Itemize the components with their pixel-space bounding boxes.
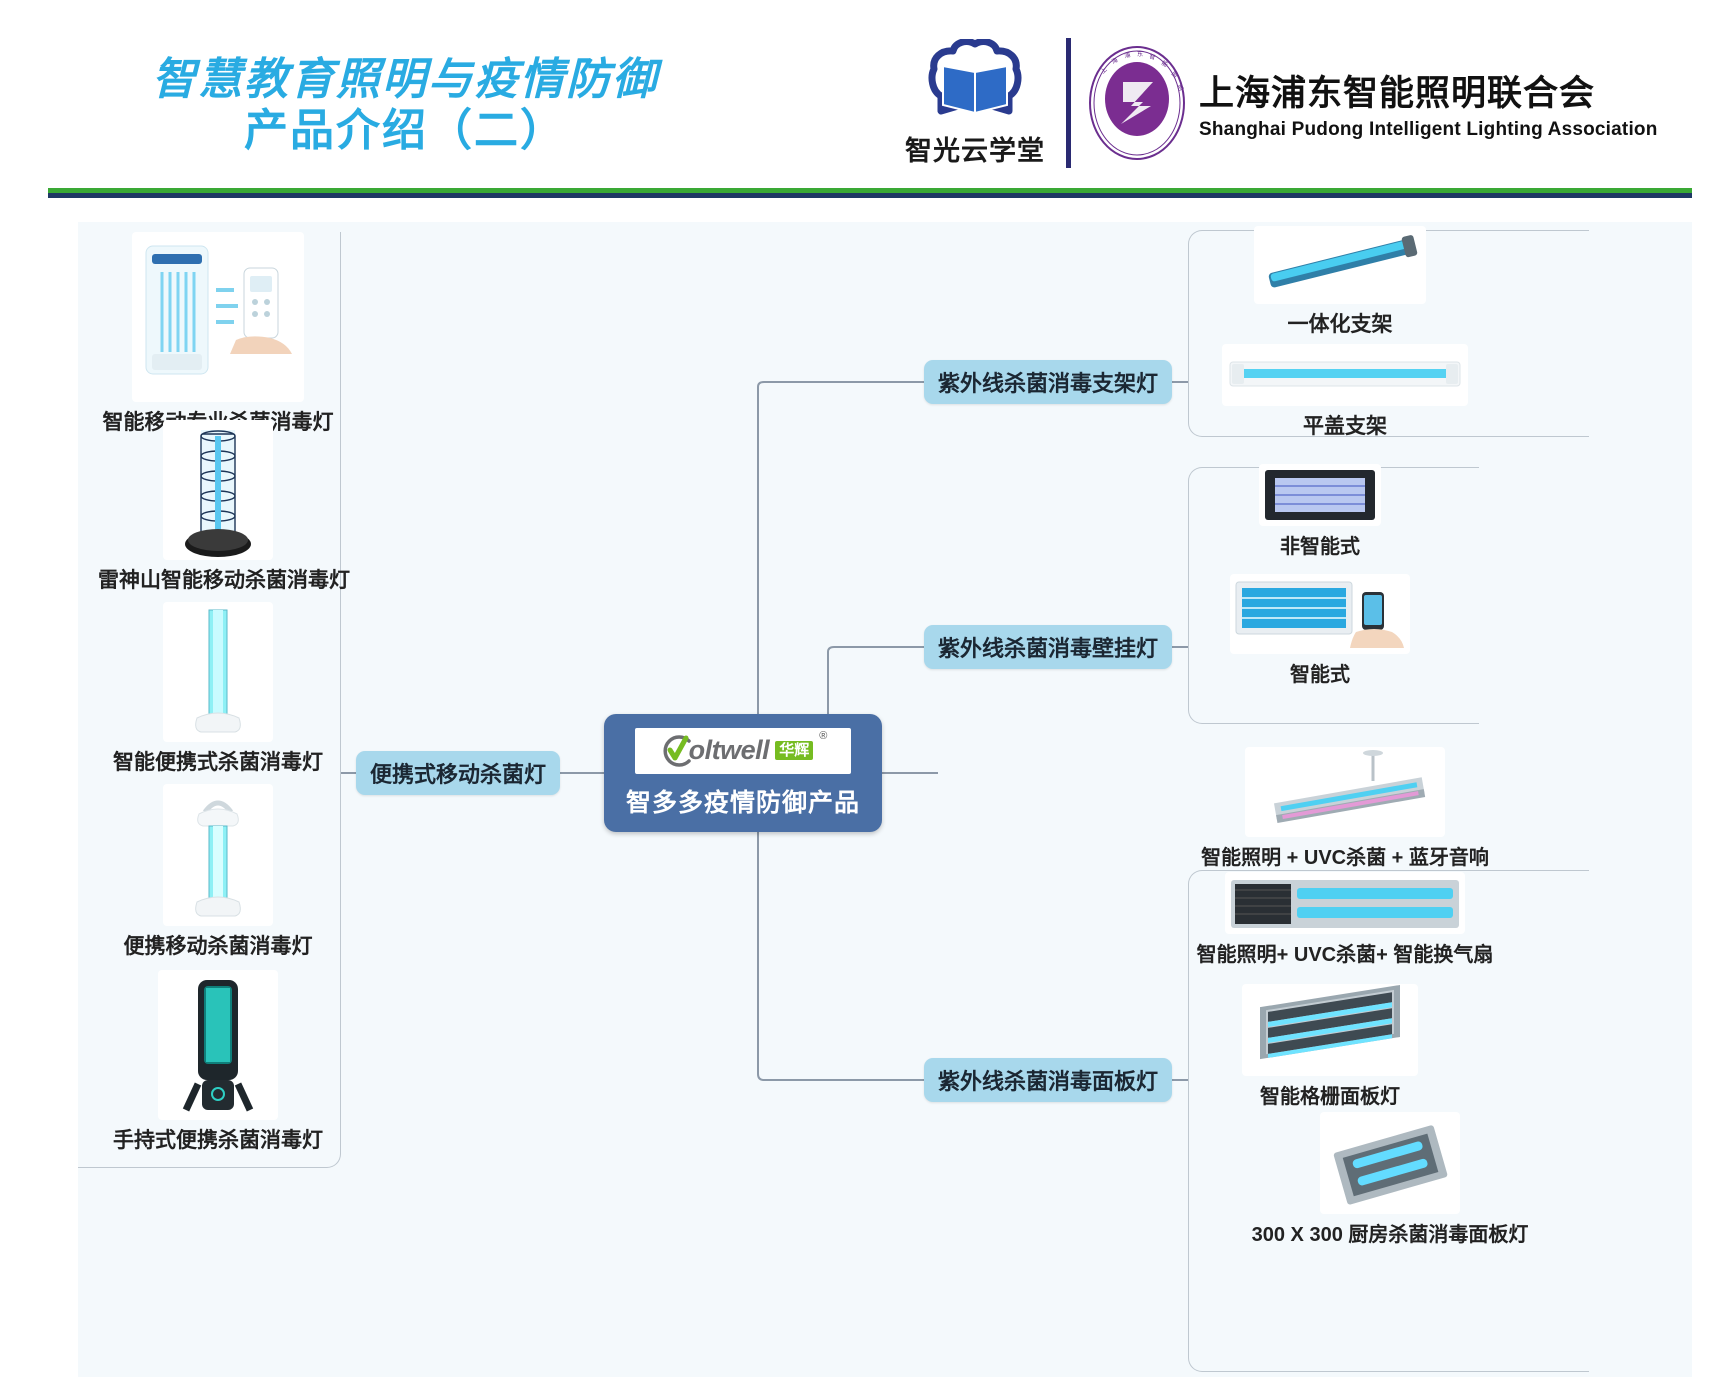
mindmap-canvas: 智能移动专业杀菌消毒灯 雷神山智能移动杀菌消毒灯 — [78, 222, 1692, 1377]
non-smart-wall-lamp-photo — [1259, 464, 1381, 526]
list-item-label: 智能照明 + UVC杀菌 + 蓝牙音响 — [1190, 841, 1500, 870]
pendant-uvc-bluetooth-photo — [1245, 747, 1445, 837]
book-cloud-icon — [923, 39, 1028, 127]
list-item[interactable]: 智能照明 + UVC杀菌 + 蓝牙音响 — [1190, 747, 1500, 870]
list-item-label: 300 X 300 厨房杀菌消毒面板灯 — [1190, 1218, 1590, 1247]
handheld-uv-lamp-photo — [158, 970, 278, 1120]
center-node[interactable]: oltwell 华辉 ® 智多多疫情防御产品 — [604, 714, 882, 832]
flat-cover-batten-photo — [1222, 344, 1468, 406]
association-name-en: Shanghai Pudong Intelligent Lighting Ass… — [1199, 119, 1658, 141]
mobile-pro-uv-lamp-photo — [132, 232, 304, 402]
zhiguang-logo-text: 智光云学堂 — [905, 129, 1045, 168]
spila-logo: 上 海 浦 东 智 能 照 明 上海浦东智能照明联合会 Shanghai Pud… — [1087, 44, 1658, 162]
list-item[interactable]: 智能便携式杀菌消毒灯 — [98, 602, 338, 776]
list-item[interactable]: 300 X 300 厨房杀菌消毒面板灯 — [1190, 1112, 1590, 1247]
title-line-1: 智慧教育照明与疫情防御 — [95, 55, 715, 106]
list-item-label: 雷神山智能移动杀菌消毒灯 — [98, 564, 338, 594]
branch-badge-portable[interactable]: 便携式移动杀菌灯 — [356, 751, 560, 795]
list-item[interactable]: 非智能式 — [1190, 464, 1450, 559]
logo-divider — [1066, 38, 1071, 168]
list-item[interactable]: 智能移动专业杀菌消毒灯 — [98, 232, 338, 436]
integrated-batten-photo — [1254, 226, 1426, 304]
voltwell-cn-mark: 华辉 — [775, 741, 813, 760]
list-item-label: 一体化支架 — [1190, 308, 1490, 338]
association-name-cn: 上海浦东智能照明联合会 — [1199, 65, 1658, 116]
header-rule-navy — [48, 193, 1692, 198]
list-item[interactable]: 智能照明+ UVC杀菌+ 智能换气扇 — [1190, 872, 1500, 967]
list-item[interactable]: 一体化支架 — [1190, 226, 1490, 338]
branch-badge-wall[interactable]: 紫外线杀菌消毒壁挂灯 — [924, 625, 1172, 669]
list-item-label: 非智能式 — [1190, 530, 1450, 559]
list-item-label: 便携移动杀菌消毒灯 — [98, 930, 338, 960]
title-line-2: 产品介绍（二） — [95, 106, 715, 157]
association-seal-icon: 上 海 浦 东 智 能 照 明 — [1087, 44, 1187, 162]
page-title: 智慧教育照明与疫情防御 产品介绍（二） — [95, 55, 715, 156]
list-item[interactable]: 便携移动杀菌消毒灯 — [98, 784, 338, 960]
center-node-caption: 智多多疫情防御产品 — [626, 783, 860, 819]
list-item[interactable]: 智能格栅面板灯 — [1190, 984, 1470, 1109]
branch-badge-label: 紫外线杀菌消毒壁挂灯 — [938, 631, 1158, 663]
svg-text:东: 东 — [1137, 50, 1143, 58]
list-item-label: 智能便携式杀菌消毒灯 — [98, 746, 338, 776]
registered-mark: ® — [819, 730, 827, 742]
portable-mobile-uv-lamp-photo — [163, 784, 273, 926]
list-item[interactable]: 智能式 — [1190, 574, 1450, 687]
smart-wall-lamp-photo — [1230, 574, 1410, 654]
list-item-label: 智能照明+ UVC杀菌+ 智能换气扇 — [1190, 938, 1500, 967]
list-item-label: 手持式便携杀菌消毒灯 — [98, 1124, 338, 1154]
voltwell-check-icon — [659, 734, 693, 768]
list-item[interactable]: 平盖支架 — [1190, 344, 1500, 440]
branch-badge-label: 紫外线杀菌消毒支架灯 — [938, 366, 1158, 398]
logo-bar: 智光云学堂 上 海 浦 东 智 能 照 明 — [900, 28, 1658, 178]
voltwell-logo: oltwell 华辉 ® — [635, 728, 851, 774]
list-item-label: 智能格栅面板灯 — [1190, 1080, 1470, 1109]
voltwell-wordmark: oltwell — [689, 735, 770, 766]
smart-portable-uv-lamp-photo — [163, 602, 273, 742]
list-item-label: 智能式 — [1190, 658, 1450, 687]
kitchen-300x300-panel-photo — [1320, 1112, 1460, 1214]
smart-grille-panel-photo — [1242, 984, 1418, 1076]
branch-badge-panel[interactable]: 紫外线杀菌消毒面板灯 — [924, 1058, 1172, 1102]
slide-header: 智慧教育照明与疫情防御 产品介绍（二） 智光云学堂 上 海 — [0, 0, 1734, 200]
uvc-ventilation-fan-photo — [1225, 872, 1465, 934]
leishenshan-uv-lamp-photo — [163, 420, 273, 560]
zhiguang-yunxuetang-logo: 智光云学堂 — [900, 39, 1050, 168]
list-item[interactable]: 手持式便携杀菌消毒灯 — [98, 970, 338, 1154]
list-item-label: 平盖支架 — [1190, 410, 1500, 440]
list-item[interactable]: 雷神山智能移动杀菌消毒灯 — [98, 420, 338, 594]
branch-badge-label: 紫外线杀菌消毒面板灯 — [938, 1064, 1158, 1096]
branch-badge-label: 便携式移动杀菌灯 — [370, 757, 546, 789]
branch-badge-batten[interactable]: 紫外线杀菌消毒支架灯 — [924, 360, 1172, 404]
